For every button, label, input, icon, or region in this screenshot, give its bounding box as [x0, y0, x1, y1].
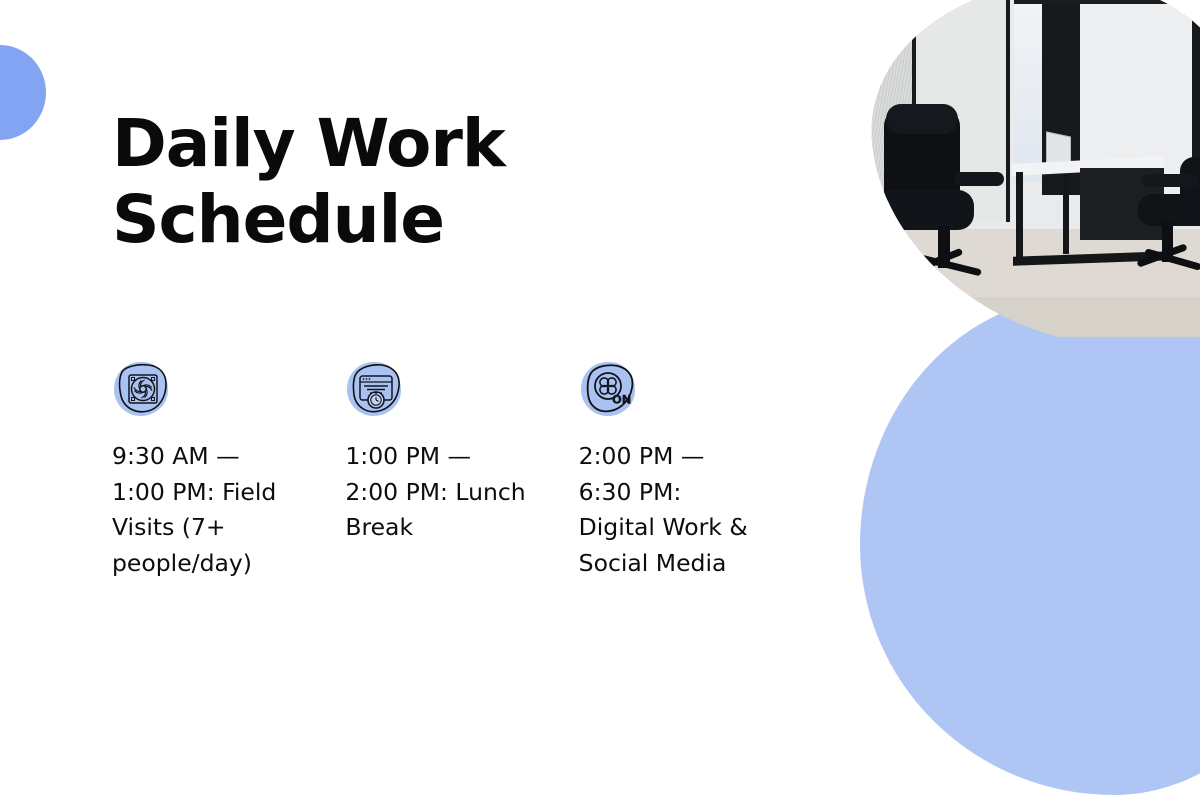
schedule-item-3: ON 2:00 PM — 6:30 PM: Digital Work & Soc… [579, 358, 812, 582]
office-photo [850, 0, 1200, 337]
page-title-line-1: Daily Work [112, 105, 505, 182]
slide-root: { "slide": { "title_line1": "Daily Work"… [0, 0, 1200, 675]
page-title: Daily Work Schedule [112, 106, 542, 258]
schedule-item-2: 1:00 PM — 2:00 PM: Lunch Break [345, 358, 578, 582]
photo-chair-right-armrest [1142, 174, 1198, 187]
cooling-fan-icon [112, 358, 174, 420]
svg-text:ON: ON [612, 393, 631, 407]
photo-chair-left-seat [876, 190, 974, 230]
photo-desk-leg-left [1016, 172, 1023, 260]
schedule-item-1-text: 9:30 AM — 1:00 PM: Field Visits (7+ peop… [112, 439, 297, 582]
decorative-blob-bottom-right [860, 295, 1200, 795]
schedule-item-2-text: 1:00 PM — 2:00 PM: Lunch Break [345, 439, 530, 546]
office-photo-image [850, 0, 1200, 337]
photo-window-left [1014, 0, 1042, 182]
decorative-blob-left [0, 45, 46, 140]
fan-on-icon: ON [579, 358, 641, 420]
schedule-item-1: 9:30 AM — 1:00 PM: Field Visits (7+ peop… [112, 358, 345, 582]
photo-chair-left-armrest [954, 172, 1004, 186]
schedule-items: 9:30 AM — 1:00 PM: Field Visits (7+ peop… [112, 358, 812, 582]
photo-chair-left-headrest [886, 104, 958, 134]
browser-stopwatch-icon [345, 358, 407, 420]
page-title-line-2: Schedule [112, 181, 444, 258]
schedule-item-3-text: 2:00 PM — 6:30 PM: Digital Work & Social… [579, 439, 764, 582]
photo-desk-leg-right [1063, 174, 1069, 254]
